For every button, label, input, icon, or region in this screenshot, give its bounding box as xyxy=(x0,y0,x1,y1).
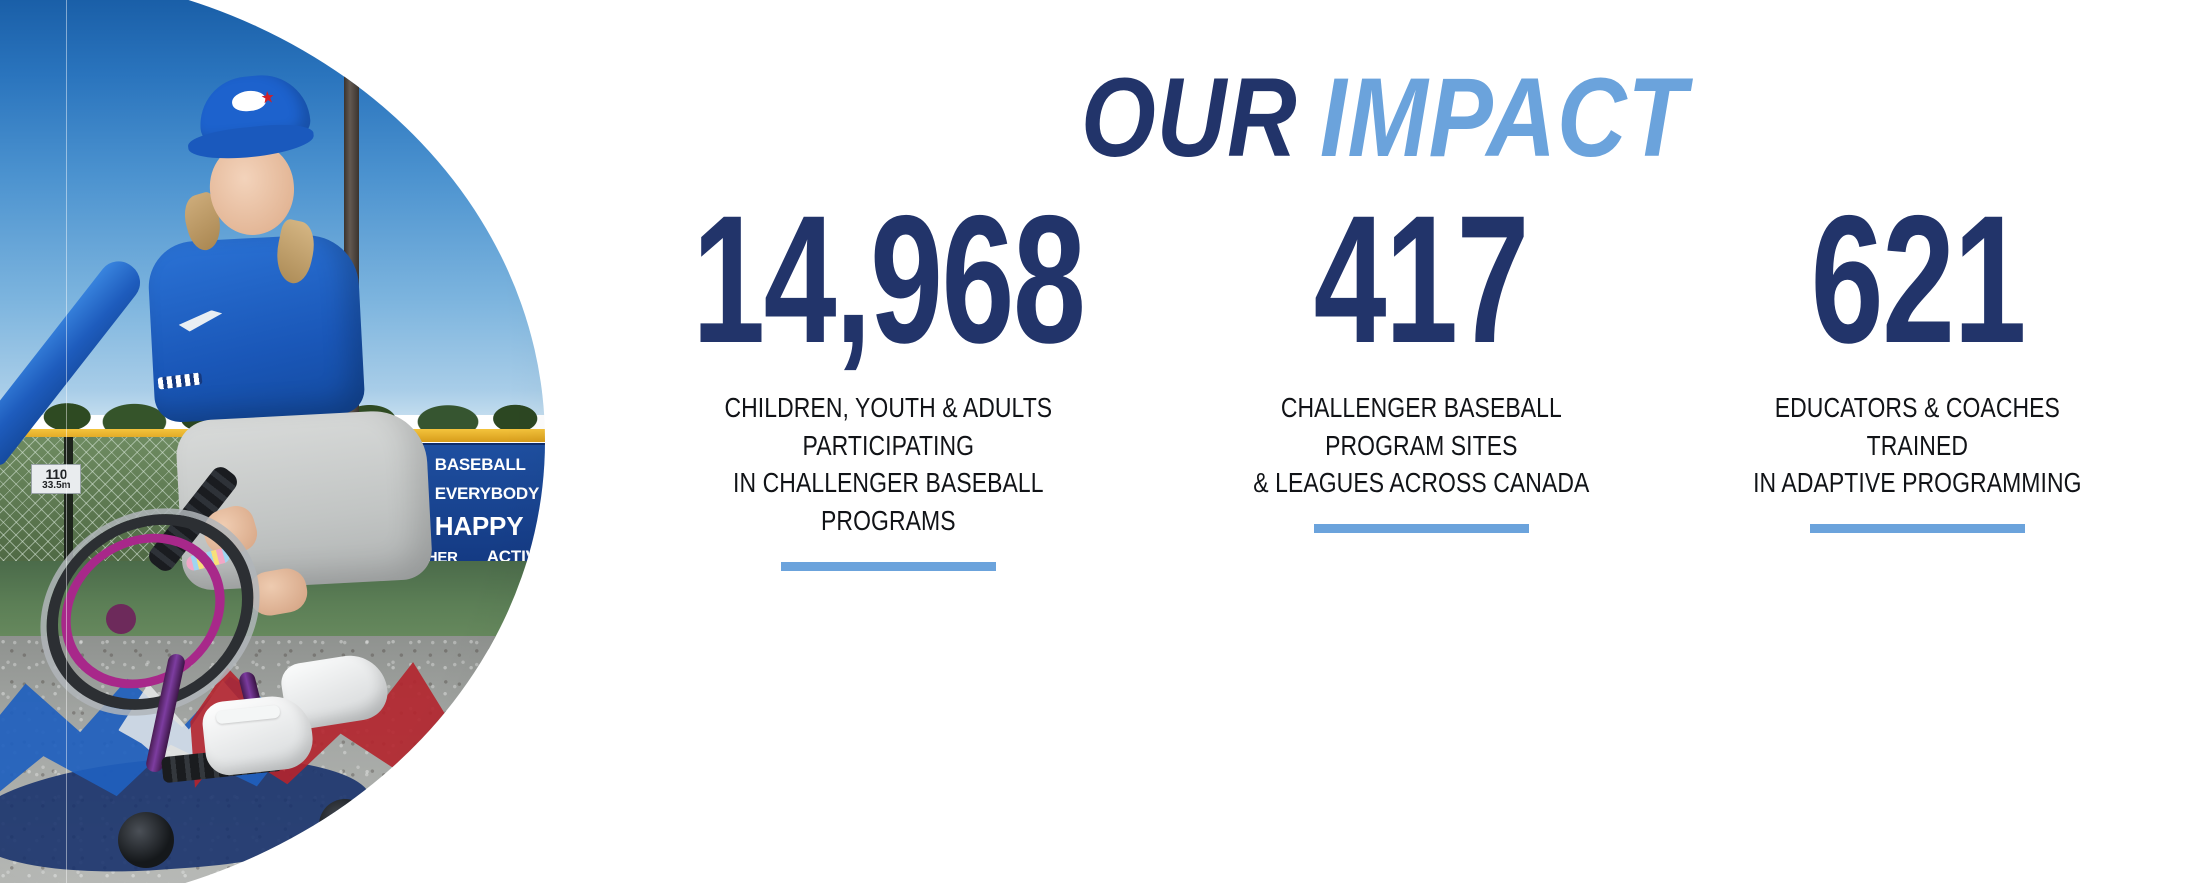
stat-underline xyxy=(781,562,996,571)
photo-seam-line xyxy=(66,0,67,883)
stat-caption: CHALLENGER BASEBALL PROGRAM SITES & LEAG… xyxy=(1227,389,1615,502)
page-title: OURIMPACT xyxy=(675,62,2092,174)
hero-photo: 110 33.5m PROUD CONFIDENCE POWER CREATED… xyxy=(0,0,560,883)
stat-card: 417 CHALLENGER BASEBALL PROGRAM SITES & … xyxy=(1173,196,1670,533)
stats-row: 14,968 CHILDREN, YOUTH & ADULTS PARTICIP… xyxy=(604,196,2166,571)
content-column: OURIMPACT 14,968 CHILDREN, YOUTH & ADULT… xyxy=(560,0,2208,883)
caster-wheel-rear xyxy=(319,799,371,851)
stat-number: 14,968 xyxy=(692,196,1084,363)
stat-number: 621 xyxy=(1811,196,2025,363)
photo-scene: 110 33.5m PROUD CONFIDENCE POWER CREATED… xyxy=(0,0,560,883)
caster-wheel-front xyxy=(118,812,174,868)
baseball-bat xyxy=(0,253,148,468)
stat-underline xyxy=(1810,524,2025,533)
girl-figure xyxy=(0,0,560,883)
stat-number: 417 xyxy=(1314,196,1528,363)
title-word-impact: IMPACT xyxy=(1320,55,1687,180)
impact-banner: 110 33.5m PROUD CONFIDENCE POWER CREATED… xyxy=(0,0,2208,883)
jersey xyxy=(147,233,366,424)
title-word-our: OUR xyxy=(1081,55,1298,180)
stat-underline xyxy=(1314,524,1529,533)
stat-caption: EDUCATORS & COACHES TRAINED IN ADAPTIVE … xyxy=(1724,389,2112,502)
stat-card: 621 EDUCATORS & COACHES TRAINED IN ADAPT… xyxy=(1669,196,2166,533)
stat-caption: CHILDREN, YOUTH & ADULTS PARTICIPATING I… xyxy=(665,389,1112,539)
stat-card: 14,968 CHILDREN, YOUTH & ADULTS PARTICIP… xyxy=(604,196,1173,571)
